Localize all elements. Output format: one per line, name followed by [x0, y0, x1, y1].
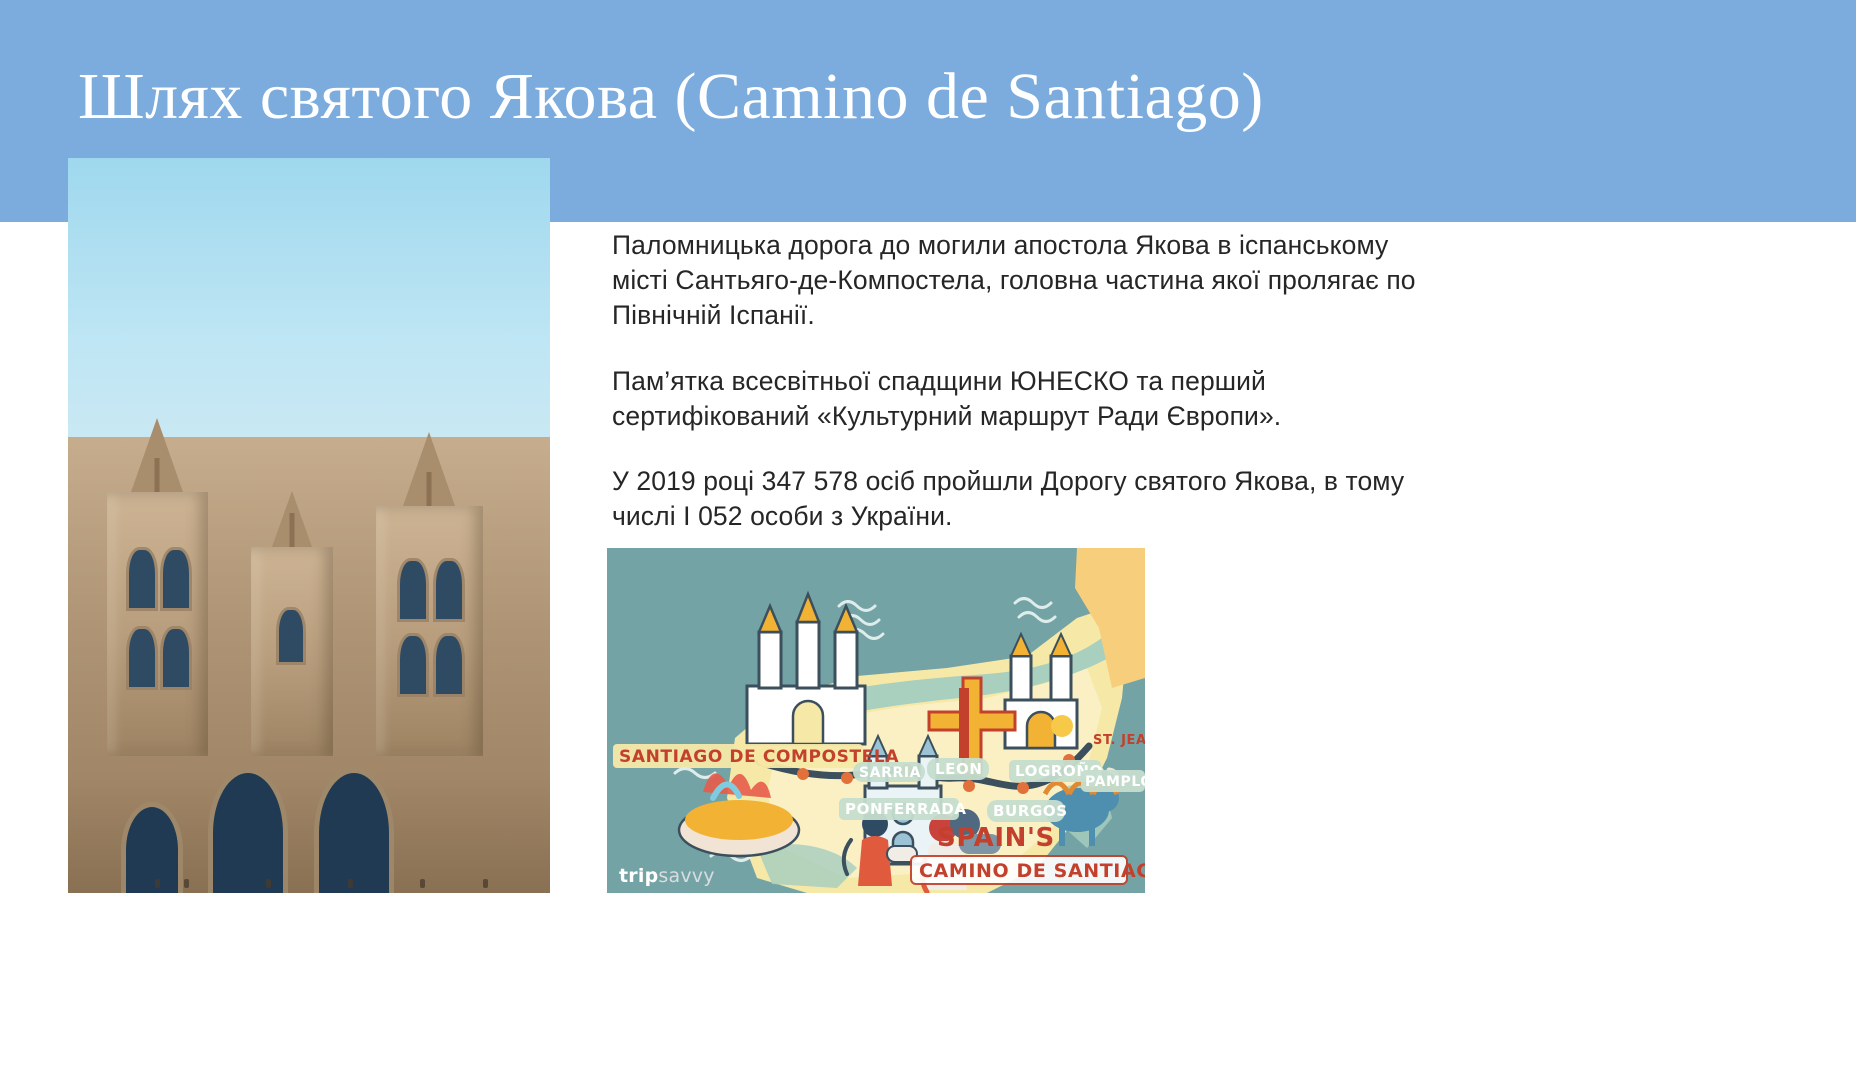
photo-window — [400, 561, 426, 619]
paragraph-description: Паломницька дорога до могили апостола Як… — [612, 228, 1450, 334]
paragraph-unesco: Пам’ятка всесвітньої спадщини ЮНЕСКО та … — [612, 364, 1450, 434]
photo-window — [163, 629, 189, 687]
slide-canvas: Шлях святого Якова (Camino de Santiago) — [0, 0, 1860, 1065]
tripsavvy-watermark: tripsavvy — [619, 865, 715, 887]
camino-map-illustration: SANTIAGO DE COMPOSTELA SARRIA PONFERRADA… — [607, 548, 1145, 893]
photo-crowd — [348, 879, 353, 888]
photo-crowd — [184, 879, 189, 888]
map-label-sarria: SARRIA — [859, 765, 921, 781]
photo-window — [129, 550, 155, 608]
map-caption-line2: CAMINO DE SANTIAGO — [919, 860, 1145, 882]
photo-crowd — [266, 879, 271, 888]
map-graphic: SANTIAGO DE COMPOSTELA SARRIA PONFERRADA… — [607, 548, 1145, 893]
watermark-savvy: savvy — [658, 865, 714, 887]
map-label-pamplona: PAMPLONA — [1085, 774, 1145, 790]
body-copy: Паломницька дорога до могили апостола Як… — [612, 228, 1450, 535]
photo-tower-middle — [251, 547, 333, 757]
map-label-leon: LEON — [935, 760, 983, 778]
photo-staircase — [116, 852, 502, 893]
photo-window — [129, 629, 155, 687]
cathedral-photo — [68, 158, 550, 893]
photo-crowd — [420, 879, 425, 888]
photo-window — [436, 561, 462, 619]
photo-window — [279, 610, 303, 662]
photo-finial-middle — [290, 513, 295, 547]
photo-window — [400, 636, 426, 694]
photo-window — [163, 550, 189, 608]
map-caption-line1: SPAIN'S — [937, 823, 1055, 853]
map-label-ponferrada: PONFERRADA — [845, 800, 967, 818]
paragraph-statistics: У 2019 році 347 578 осіб пройшли Дорогу … — [612, 464, 1450, 534]
photo-tower-right — [376, 506, 482, 757]
photo-crowd — [483, 879, 488, 888]
map-santiago-cathedral-icon — [747, 594, 865, 744]
photo-crowd — [155, 879, 160, 888]
photo-finial-left — [155, 458, 160, 492]
page-title: Шлях святого Якова (Camino de Santiago) — [78, 62, 1778, 132]
photo-cathedral-facade — [68, 437, 550, 893]
photo-finial-right — [427, 472, 432, 506]
map-label-st-jean: ST. JEAN PIED DE PORT — [1093, 733, 1145, 748]
map-label-burgos: BURGOS — [993, 802, 1068, 820]
photo-tower-left — [107, 492, 208, 756]
photo-window — [436, 636, 462, 694]
watermark-trip: trip — [619, 865, 658, 887]
